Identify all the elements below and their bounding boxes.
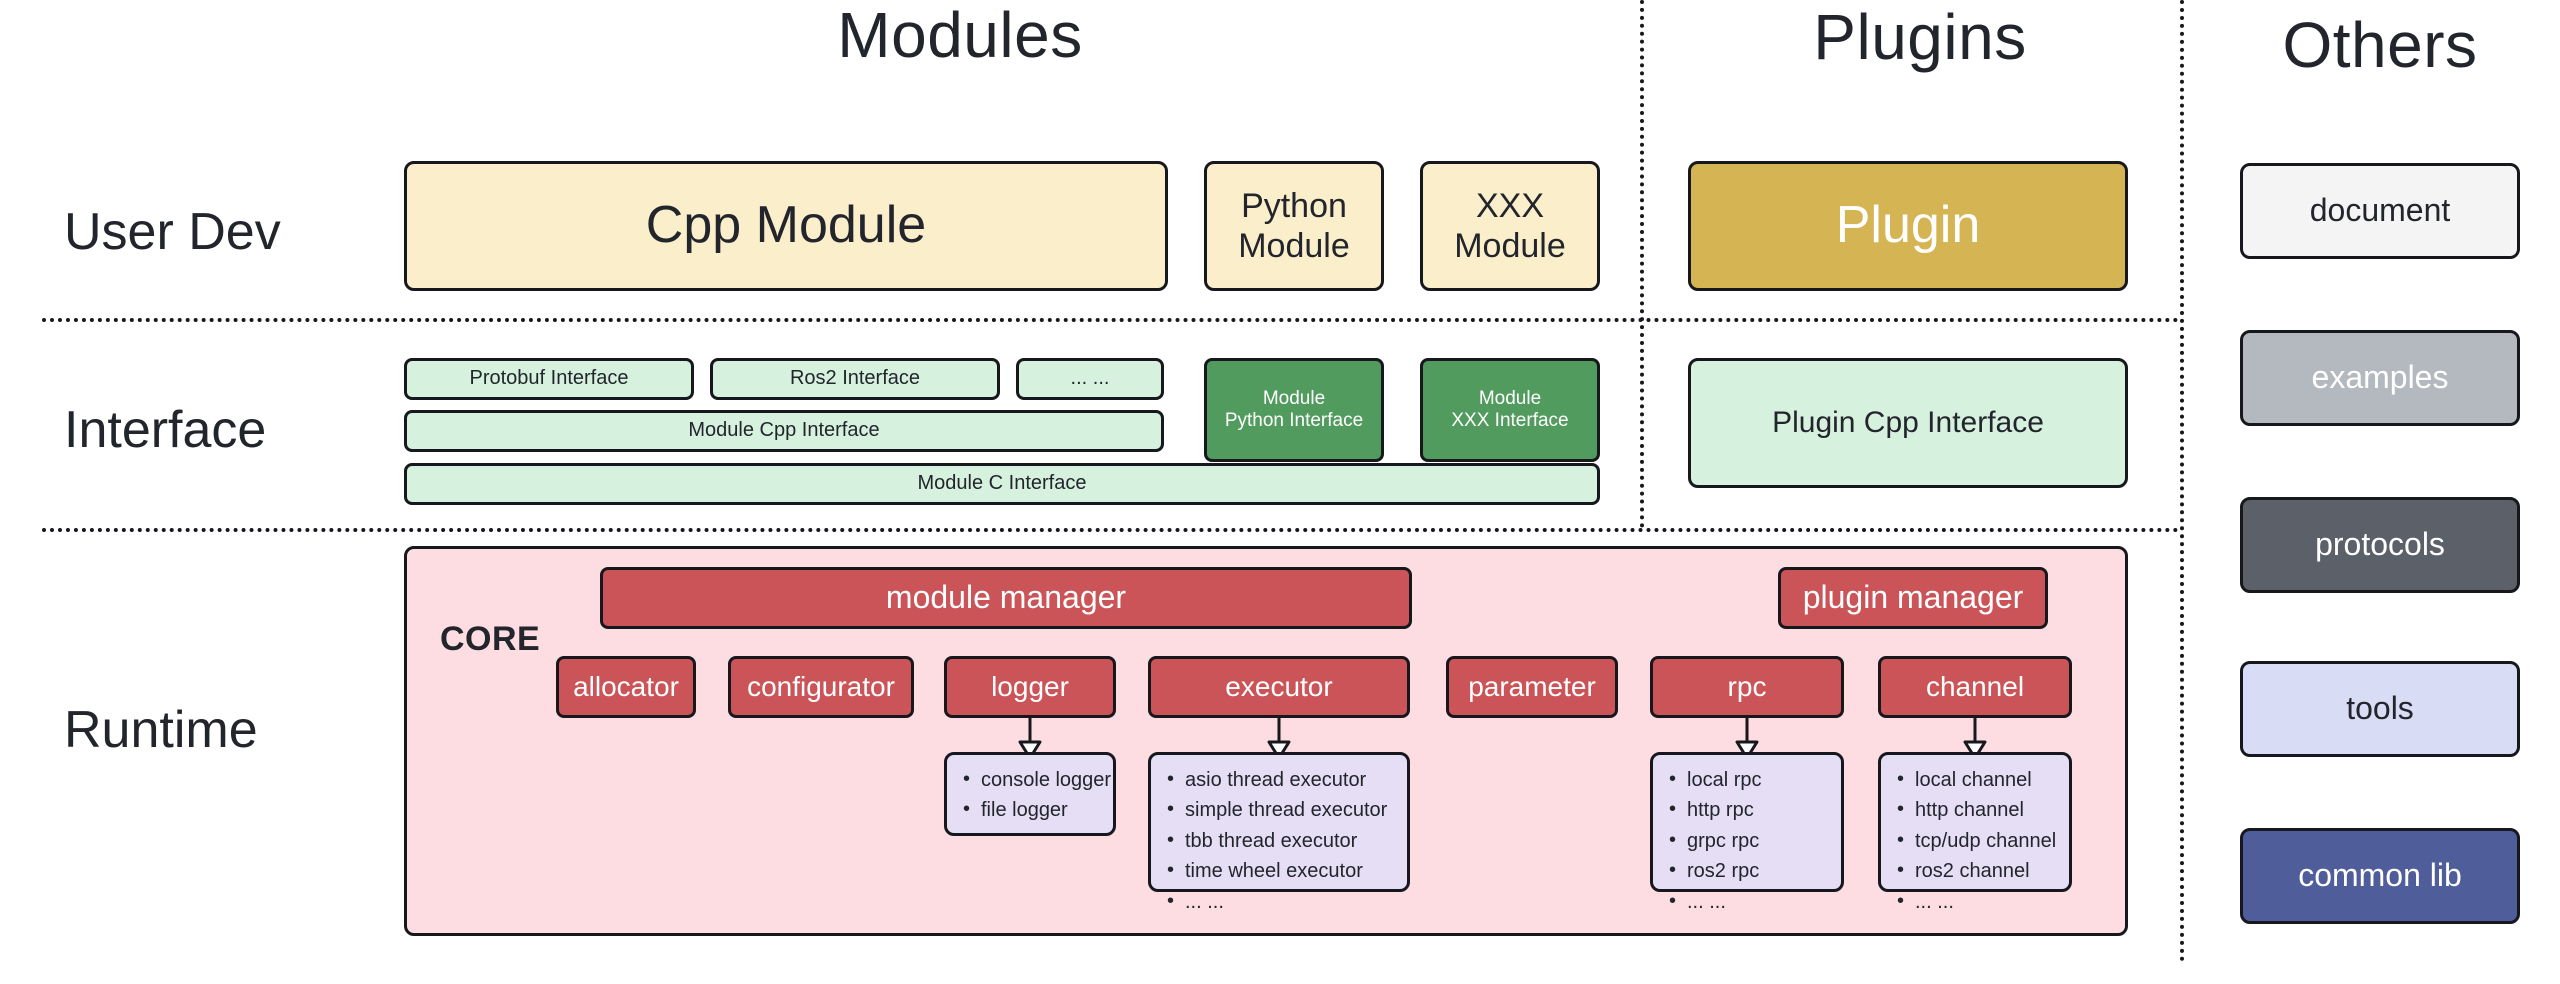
column-title-plugins: Plugins — [1660, 0, 2180, 74]
ellipsis-interface-box[interactable]: ... ... — [1016, 358, 1164, 400]
python-module-box[interactable]: Python Module — [1204, 161, 1384, 291]
core-component-executor[interactable]: executor — [1148, 656, 1410, 718]
row-label-runtime: Runtime — [64, 700, 258, 760]
list-item: http channel — [1893, 795, 2055, 825]
ros2-interface-box[interactable]: Ros2 Interface — [710, 358, 1000, 400]
column-title-modules: Modules — [660, 0, 1260, 72]
core-label: CORE — [440, 620, 540, 659]
list-item: asio thread executor — [1163, 765, 1393, 795]
protobuf-interface-box[interactable]: Protobuf Interface — [404, 358, 694, 400]
list-item: ... ... — [1665, 887, 1827, 917]
core-component-logger[interactable]: logger — [944, 656, 1116, 718]
logger-detail-list: console logger file logger — [959, 765, 1099, 826]
list-item: tbb thread executor — [1163, 826, 1393, 856]
list-item: local rpc — [1665, 765, 1827, 795]
channel-detail-list: local channel http channel tcp/udp chann… — [1893, 765, 2055, 917]
xxx-module-box[interactable]: XXX Module — [1420, 161, 1600, 291]
row-label-user-dev: User Dev — [64, 202, 281, 262]
list-item: console logger — [959, 765, 1099, 795]
others-item-common-lib[interactable]: common lib — [2240, 828, 2520, 924]
logger-detail-box: console logger file logger — [944, 752, 1116, 836]
column-title-others: Others — [2210, 8, 2550, 82]
core-component-channel[interactable]: channel — [1878, 656, 2072, 718]
list-item: ... ... — [1163, 887, 1393, 917]
list-item: ros2 channel — [1893, 856, 2055, 886]
divider-userdev-interface — [42, 318, 2180, 322]
list-item: tcp/udp channel — [1893, 826, 2055, 856]
others-item-document[interactable]: document — [2240, 163, 2520, 259]
cpp-module-box[interactable]: Cpp Module — [404, 161, 1168, 291]
others-item-protocols[interactable]: protocols — [2240, 497, 2520, 593]
architecture-diagram: Modules Plugins Others User Dev Interfac… — [0, 0, 2560, 984]
module-c-interface-box[interactable]: Module C Interface — [404, 463, 1600, 505]
module-cpp-interface-box[interactable]: Module Cpp Interface — [404, 410, 1164, 452]
divider-plugins-others — [2180, 0, 2184, 962]
module-python-interface-box[interactable]: Module Python Interface — [1204, 358, 1384, 462]
plugin-cpp-interface-box[interactable]: Plugin Cpp Interface — [1688, 358, 2128, 488]
others-item-tools[interactable]: tools — [2240, 661, 2520, 757]
executor-detail-box: asio thread executor simple thread execu… — [1148, 752, 1410, 892]
list-item: time wheel executor — [1163, 856, 1393, 886]
list-item: local channel — [1893, 765, 2055, 795]
core-component-rpc[interactable]: rpc — [1650, 656, 1844, 718]
list-item: ros2 rpc — [1665, 856, 1827, 886]
rpc-detail-box: local rpc http rpc grpc rpc ros2 rpc ...… — [1650, 752, 1844, 892]
module-xxx-interface-box[interactable]: Module XXX Interface — [1420, 358, 1600, 462]
list-item: http rpc — [1665, 795, 1827, 825]
list-item: simple thread executor — [1163, 795, 1393, 825]
row-label-interface: Interface — [64, 400, 266, 460]
channel-detail-box: local channel http channel tcp/udp chann… — [1878, 752, 2072, 892]
core-component-parameter[interactable]: parameter — [1446, 656, 1618, 718]
list-item: ... ... — [1893, 887, 2055, 917]
divider-modules-plugins — [1640, 0, 1644, 528]
list-item: grpc rpc — [1665, 826, 1827, 856]
list-item: file logger — [959, 795, 1099, 825]
others-item-examples[interactable]: examples — [2240, 330, 2520, 426]
executor-detail-list: asio thread executor simple thread execu… — [1163, 765, 1393, 917]
rpc-detail-list: local rpc http rpc grpc rpc ros2 rpc ...… — [1665, 765, 1827, 917]
module-manager-box[interactable]: module manager — [600, 567, 1412, 629]
core-component-configurator[interactable]: configurator — [728, 656, 914, 718]
plugin-box[interactable]: Plugin — [1688, 161, 2128, 291]
divider-interface-runtime — [42, 528, 2180, 532]
plugin-manager-box[interactable]: plugin manager — [1778, 567, 2048, 629]
core-component-allocator[interactable]: allocator — [556, 656, 696, 718]
